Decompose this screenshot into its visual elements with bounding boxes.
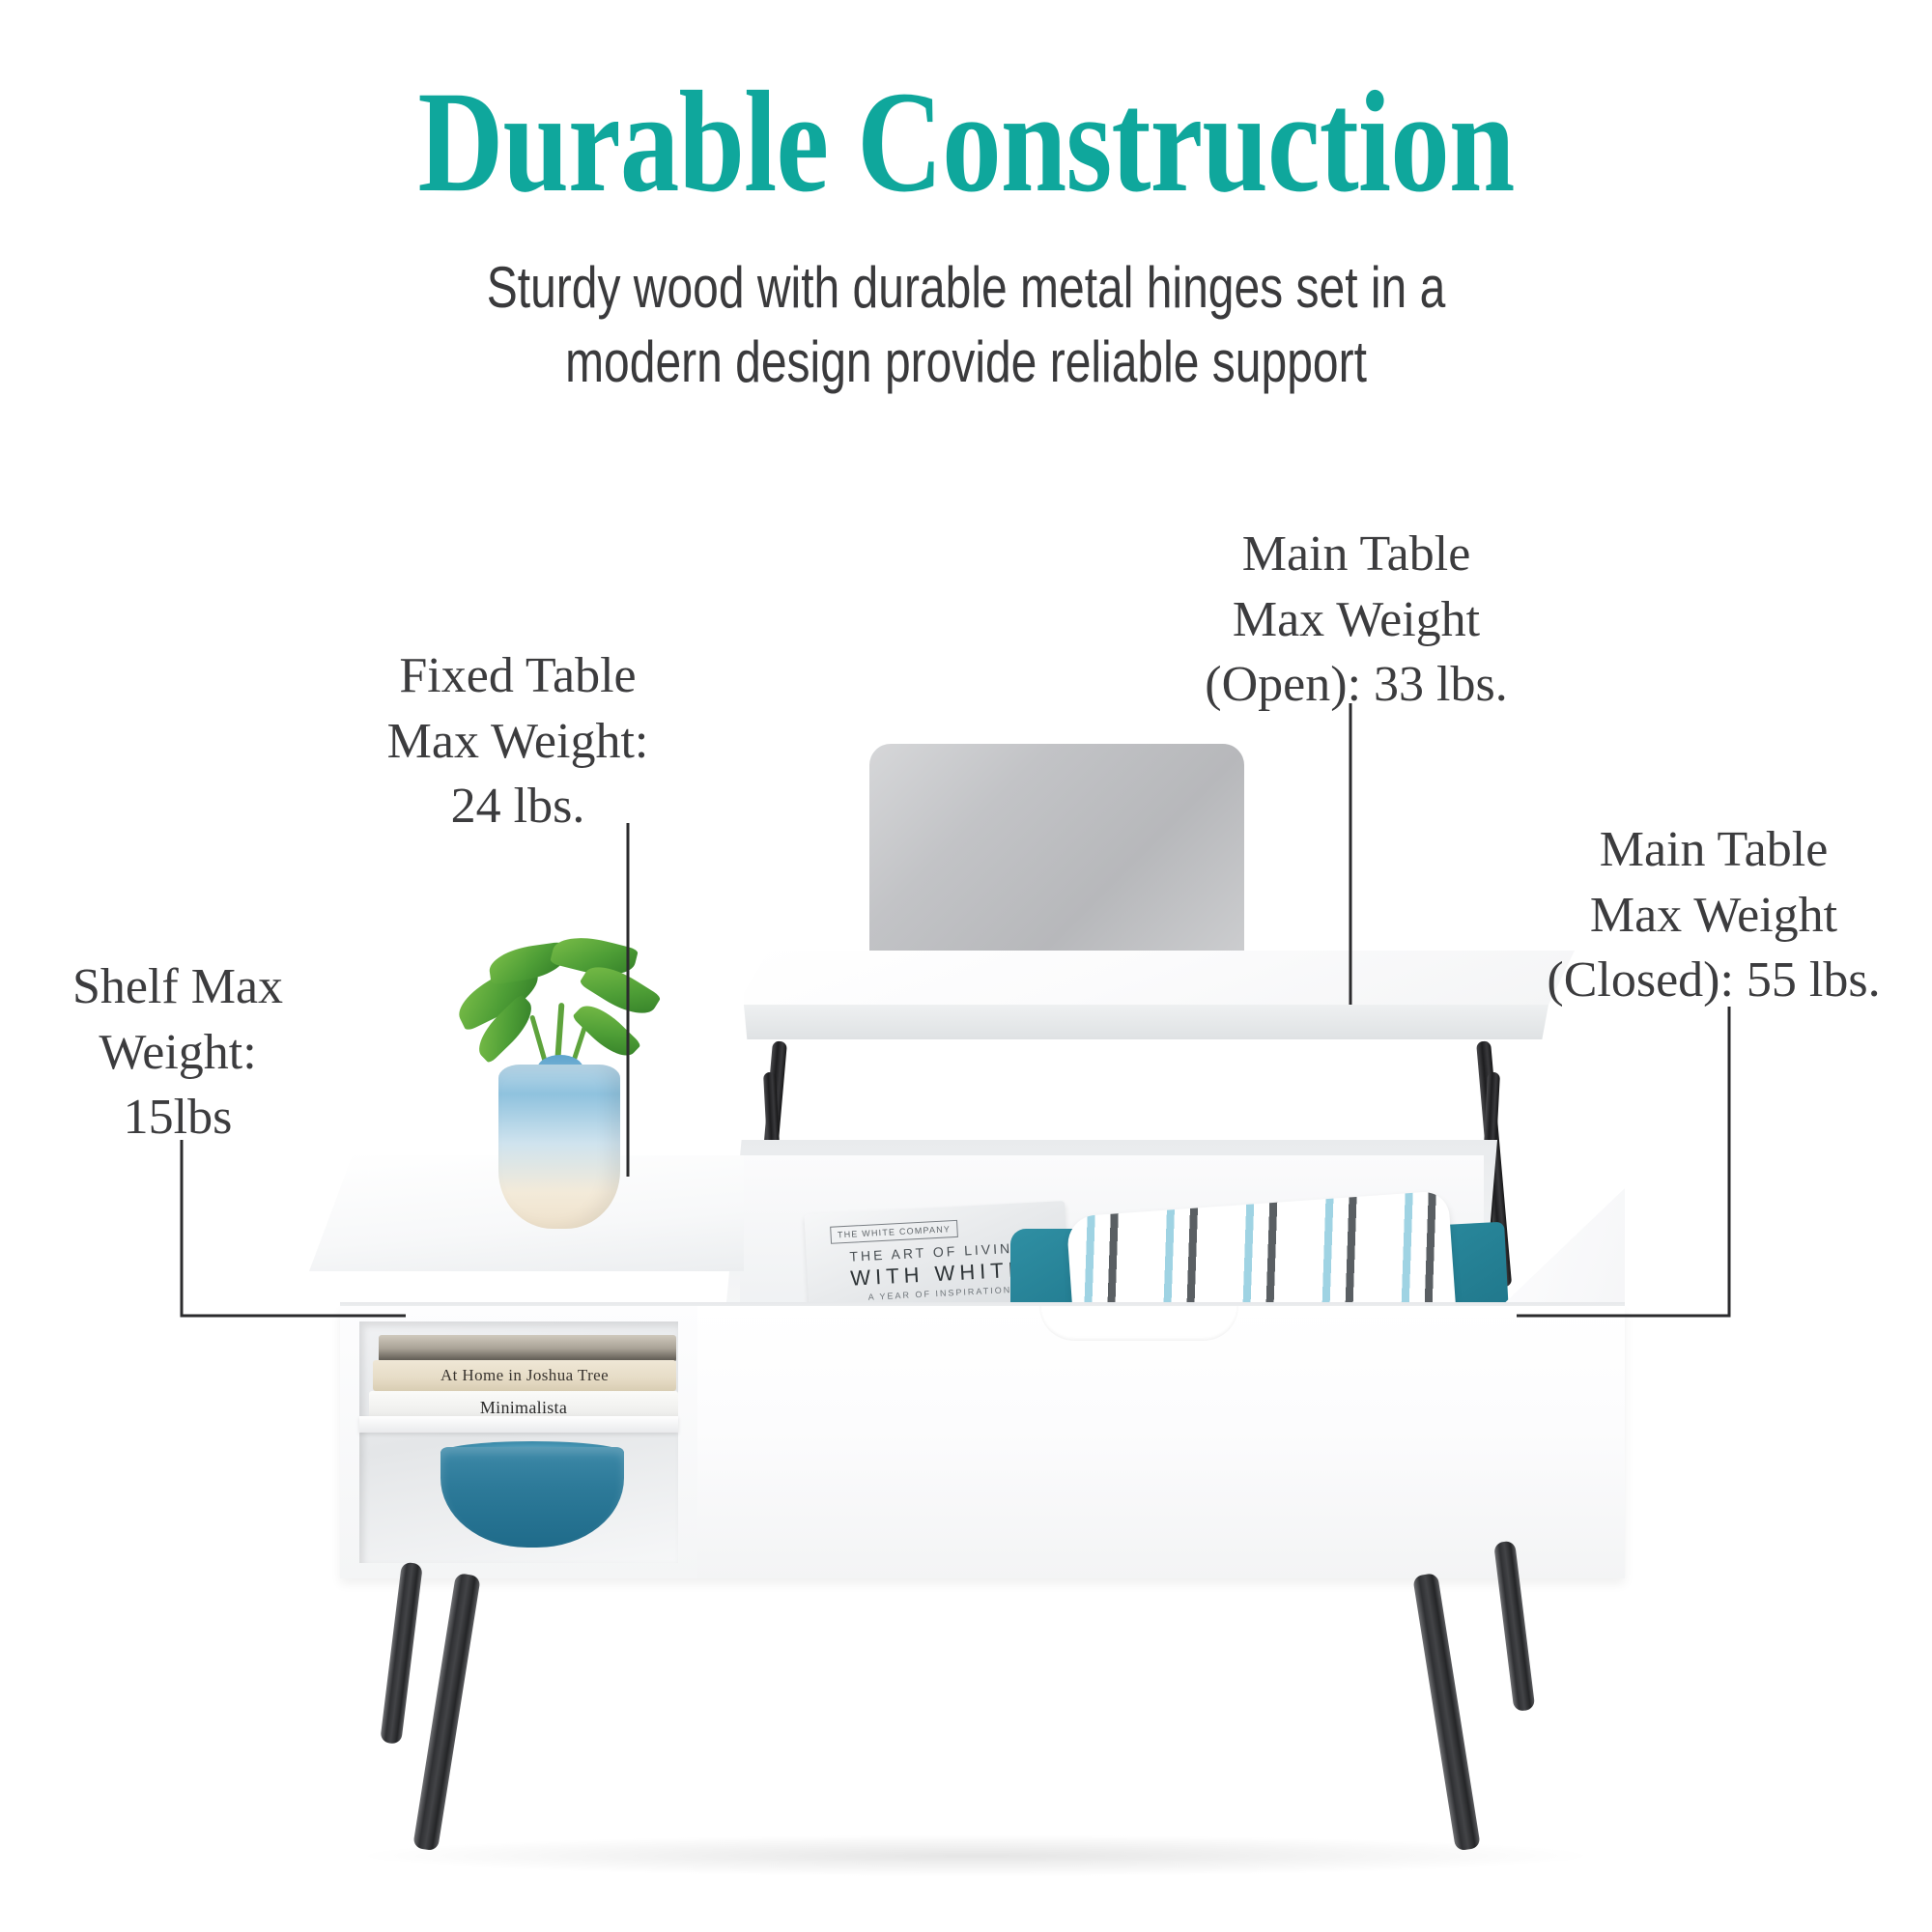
leader-line-main-closed bbox=[1517, 1007, 1729, 1316]
callout-main-table-max-weight-open: Main Table Max Weight (Open): 33 lbs. bbox=[1153, 522, 1559, 718]
leader-line-shelf bbox=[182, 1140, 406, 1316]
callout-shelf-max-weight: Shelf Max Weight: 15lbs bbox=[23, 954, 332, 1151]
callout-main-table-max-weight-closed: Main Table Max Weight (Closed): 55 lbs. bbox=[1495, 817, 1932, 1013]
callout-fixed-table-max-weight: Fixed Table Max Weight: 24 lbs. bbox=[354, 643, 682, 839]
